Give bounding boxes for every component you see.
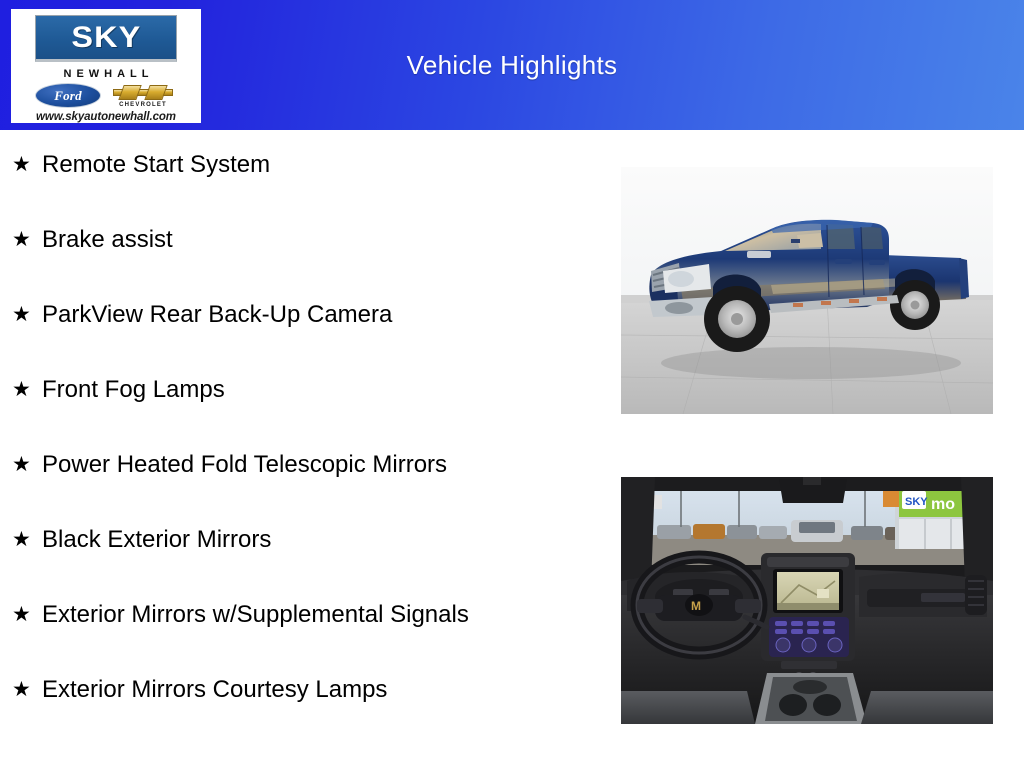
star-bullet-icon: ★ (12, 148, 42, 182)
dealer-website-url: www.skyautonewhall.com (36, 111, 176, 123)
feature-label: Exterior Mirrors Courtesy Lamps (42, 673, 387, 707)
star-bullet-icon: ★ (12, 373, 42, 407)
star-bullet-icon: ★ (12, 673, 42, 707)
star-bullet-icon: ★ (12, 223, 42, 257)
feature-label: Brake assist (42, 223, 173, 257)
feature-label: Black Exterior Mirrors (42, 523, 271, 557)
feature-label: ParkView Rear Back-Up Camera (42, 298, 392, 332)
list-item: ★ Brake assist (12, 223, 608, 257)
brand-logos-row: Ford CHEVROLET (11, 83, 201, 108)
list-item: ★ Remote Start System (12, 148, 608, 182)
list-item: ★ Exterior Mirrors Courtesy Lamps (12, 673, 608, 707)
sky-brand-badge: SKY (35, 15, 177, 62)
bowtie-bar-left (118, 85, 141, 100)
svg-text:SKY: SKY (905, 496, 928, 508)
star-bullet-icon: ★ (12, 598, 42, 632)
svg-text:mo: mo (931, 496, 955, 513)
exterior-photo[interactable] (621, 167, 993, 414)
chevrolet-logo-text: CHEVROLET (119, 102, 167, 108)
feature-label: Power Heated Fold Telescopic Mirrors (42, 448, 447, 482)
ford-logo-icon: Ford (35, 83, 101, 108)
list-item: ★ Exterior Mirrors w/Supplemental Signal… (12, 598, 608, 632)
chevrolet-logo-icon: CHEVROLET (109, 84, 177, 108)
svg-text:M: M (691, 599, 701, 613)
list-item: ★ Black Exterior Mirrors (12, 523, 608, 557)
ford-logo-text: Ford (54, 88, 82, 104)
list-item: ★ Front Fog Lamps (12, 373, 608, 407)
sky-badge-text: SKY (71, 21, 141, 55)
dealer-logo[interactable]: SKY NEWHALL Ford CHEVROLET www.skyautone… (11, 9, 201, 123)
list-item: ★ ParkView Rear Back-Up Camera (12, 298, 608, 332)
exterior-photo-graphic (621, 167, 993, 414)
feature-label: Front Fog Lamps (42, 373, 225, 407)
bowtie-bar-right (144, 85, 167, 100)
list-item: ★ Power Heated Fold Telescopic Mirrors (12, 448, 608, 482)
interior-photo-graphic: SKY mo (621, 477, 993, 724)
chevrolet-bowtie-icon (113, 84, 173, 101)
vehicle-highlights-list: ★ Remote Start System ★ Brake assist ★ P… (12, 148, 608, 748)
feature-label: Exterior Mirrors w/Supplemental Signals (42, 598, 469, 632)
star-bullet-icon: ★ (12, 523, 42, 557)
dealer-location-text: NEWHALL (59, 68, 154, 80)
star-bullet-icon: ★ (12, 448, 42, 482)
star-bullet-icon: ★ (12, 298, 42, 332)
feature-label: Remote Start System (42, 148, 270, 182)
interior-photo[interactable]: SKY mo (621, 477, 993, 724)
